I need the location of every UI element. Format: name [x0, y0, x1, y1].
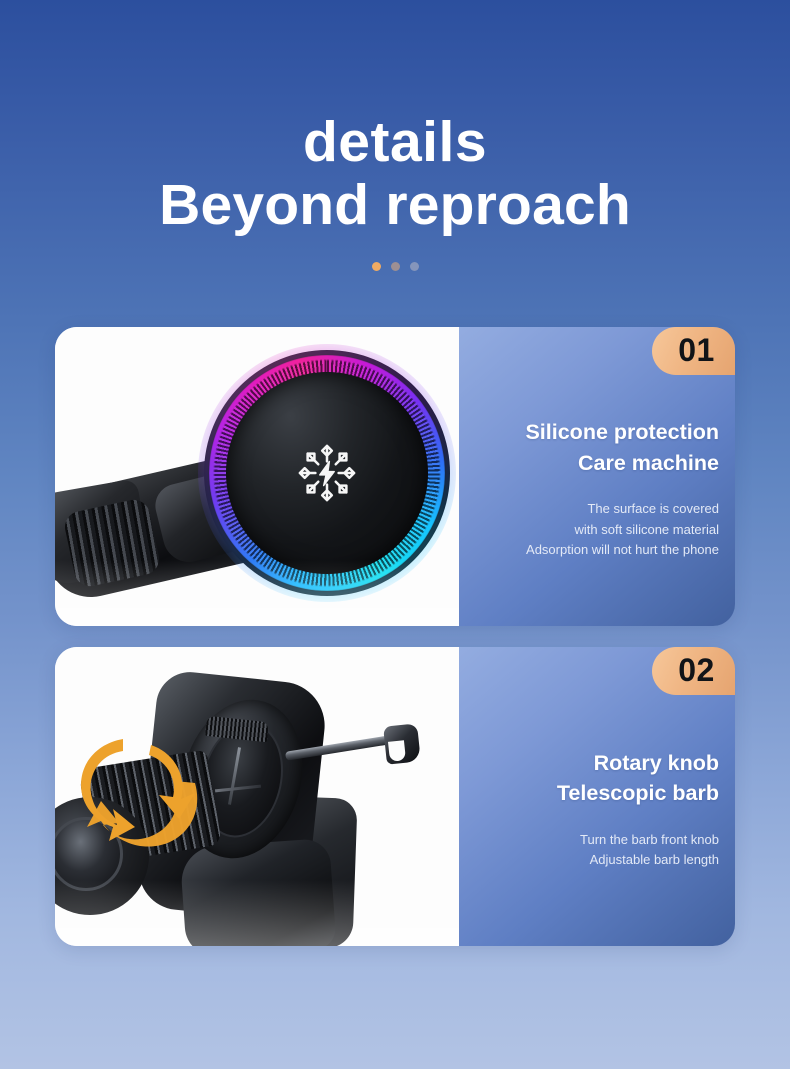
product-photo-rotary-knob	[55, 647, 459, 946]
page-header: details Beyond reproach	[0, 0, 790, 271]
desc-line-1: The surface is covered	[471, 499, 719, 520]
feature-description: The surface is covered with soft silicon…	[471, 499, 719, 561]
page-title-line1: details	[0, 112, 790, 172]
feature-card-rotary-knob[interactable]: 02 Rotary knob Telescopic barb Turn the …	[55, 647, 735, 946]
page-title-line2: Beyond reproach	[0, 172, 790, 239]
card-badge-number: 02	[652, 647, 735, 695]
carousel-dots[interactable]	[0, 262, 790, 271]
feature-card-list: 01 Silicone protection Care machine The …	[0, 327, 790, 946]
product-photo-magnetic-mount	[55, 327, 459, 626]
dot-3[interactable]	[410, 262, 419, 271]
charger-face	[226, 372, 428, 574]
dot-2[interactable]	[391, 262, 400, 271]
desc-line-2: with soft silicone material	[471, 520, 719, 541]
feature-info-panel: 02 Rotary knob Telescopic barb Turn the …	[459, 647, 735, 946]
heading-line-1: Silicone protection	[471, 417, 719, 448]
card-badge-number: 01	[652, 327, 735, 375]
heading-line-1: Rotary knob	[471, 748, 719, 779]
feature-info-panel: 01 Silicone protection Care machine The …	[459, 327, 735, 626]
feature-heading: Silicone protection Care machine	[471, 417, 719, 478]
barb-hook-notch	[388, 740, 406, 762]
desc-line-2: Adjustable barb length	[471, 850, 719, 871]
rotation-arrows-icon	[79, 735, 219, 883]
feature-heading: Rotary knob Telescopic barb	[471, 748, 719, 809]
feature-description: Turn the barb front knob Adjustable barb…	[471, 830, 719, 871]
dot-active[interactable]	[372, 262, 381, 271]
charging-head	[204, 350, 450, 596]
heading-line-2: Telescopic barb	[471, 778, 719, 809]
snowflake-bolt-icon	[296, 442, 358, 504]
feature-card-silicone-protection[interactable]: 01 Silicone protection Care machine The …	[55, 327, 735, 626]
heading-line-2: Care machine	[471, 448, 719, 479]
desc-line-1: Turn the barb front knob	[471, 830, 719, 851]
desc-line-3: Adsorption will not hurt the phone	[471, 540, 719, 561]
